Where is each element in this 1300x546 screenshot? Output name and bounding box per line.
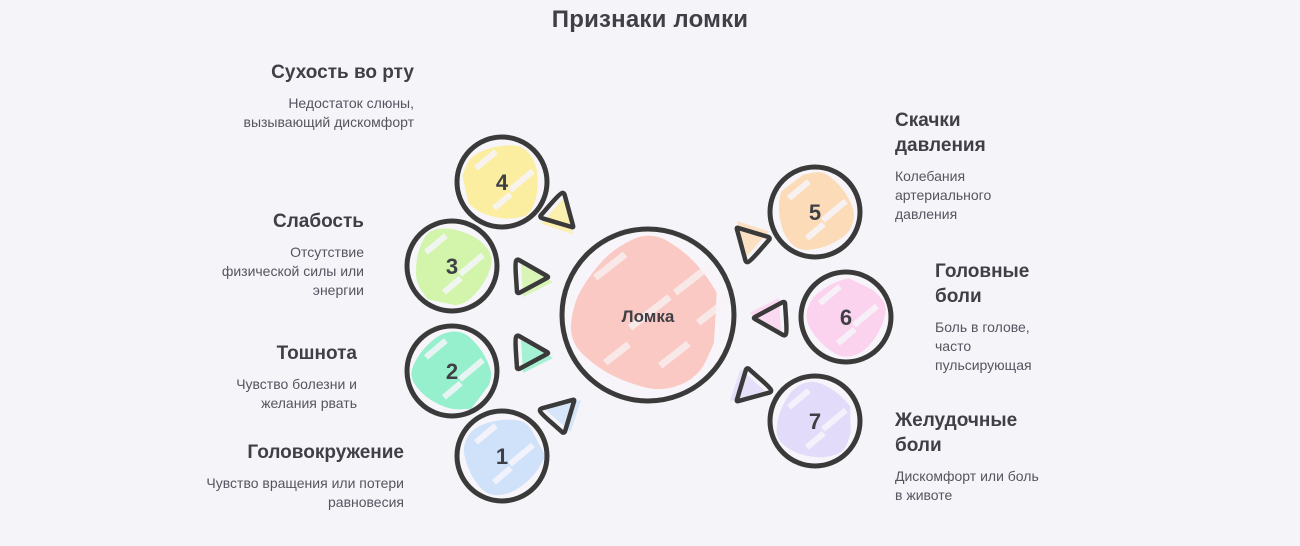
- arrow-triangle-1: [539, 384, 592, 437]
- label-block-3: СлабостьОтсутствие физической силы или э…: [218, 209, 364, 300]
- node-number: 7: [809, 409, 821, 434]
- label-heading: Слабость: [218, 209, 364, 234]
- arrow-triangle-2: [516, 336, 554, 373]
- node-number: 4: [496, 170, 509, 195]
- label-body: Недостаток слюны, вызывающий дискомфорт: [218, 94, 414, 132]
- node-number: 6: [840, 305, 852, 330]
- node-number: 2: [446, 359, 458, 384]
- node-number: 1: [496, 444, 508, 469]
- node-number: 5: [809, 200, 821, 225]
- node-circle-3[interactable]: 3: [407, 221, 497, 311]
- node-number: 3: [446, 254, 458, 279]
- label-heading: Скачки давления: [895, 108, 1035, 158]
- node-circle-5[interactable]: 5: [770, 167, 860, 257]
- label-block-7: Желудочные болиДискомфорт или боль в жив…: [895, 408, 1045, 505]
- node-circle-2[interactable]: 2: [407, 326, 497, 416]
- arrow-triangle-3: [516, 260, 554, 297]
- center-label: Ломка: [622, 307, 675, 326]
- label-block-4: Сухость во ртуНедостаток слюны, вызывающ…: [218, 60, 414, 132]
- label-body: Чувство болезни и желания рвать: [198, 375, 357, 413]
- diagram-svg: Ломка1234567: [0, 0, 1300, 546]
- arrow-triangle-6: [749, 298, 787, 335]
- label-heading: Сухость во рту: [218, 60, 414, 85]
- label-body: Боль в голове, часто пульсирующая: [935, 318, 1055, 375]
- node-circle-6[interactable]: 6: [801, 272, 891, 362]
- label-body: Чувство вращения или потери равновесия: [198, 474, 404, 512]
- label-heading: Головокружение: [198, 440, 404, 465]
- label-heading: Головные боли: [935, 259, 1055, 309]
- label-body: Колебания артериального давления: [895, 167, 1035, 224]
- node-circle-7[interactable]: 7: [770, 376, 860, 466]
- label-block-1: ГоловокружениеЧувство вращения или потер…: [198, 440, 404, 512]
- label-heading: Тошнота: [198, 341, 357, 366]
- arrow-triangle-7: [719, 364, 772, 417]
- label-heading: Желудочные боли: [895, 408, 1045, 458]
- label-body: Отсутствие физической силы или энергии: [218, 243, 364, 300]
- center-node: Ломка: [562, 229, 734, 401]
- label-block-2: ТошнотаЧувство болезни и желания рвать: [198, 341, 357, 413]
- label-block-6: Головные болиБоль в голове, часто пульси…: [935, 259, 1055, 375]
- arrow-triangle-5: [721, 210, 774, 263]
- infographic-canvas: Признаки ломки Ломка1234567 Сухость во р…: [0, 0, 1300, 546]
- label-body: Дискомфорт или боль в животе: [895, 467, 1045, 505]
- node-circle-1[interactable]: 1: [457, 411, 547, 501]
- node-circle-4[interactable]: 4: [457, 137, 547, 227]
- label-block-5: Скачки давленияКолебания артериального д…: [895, 108, 1035, 224]
